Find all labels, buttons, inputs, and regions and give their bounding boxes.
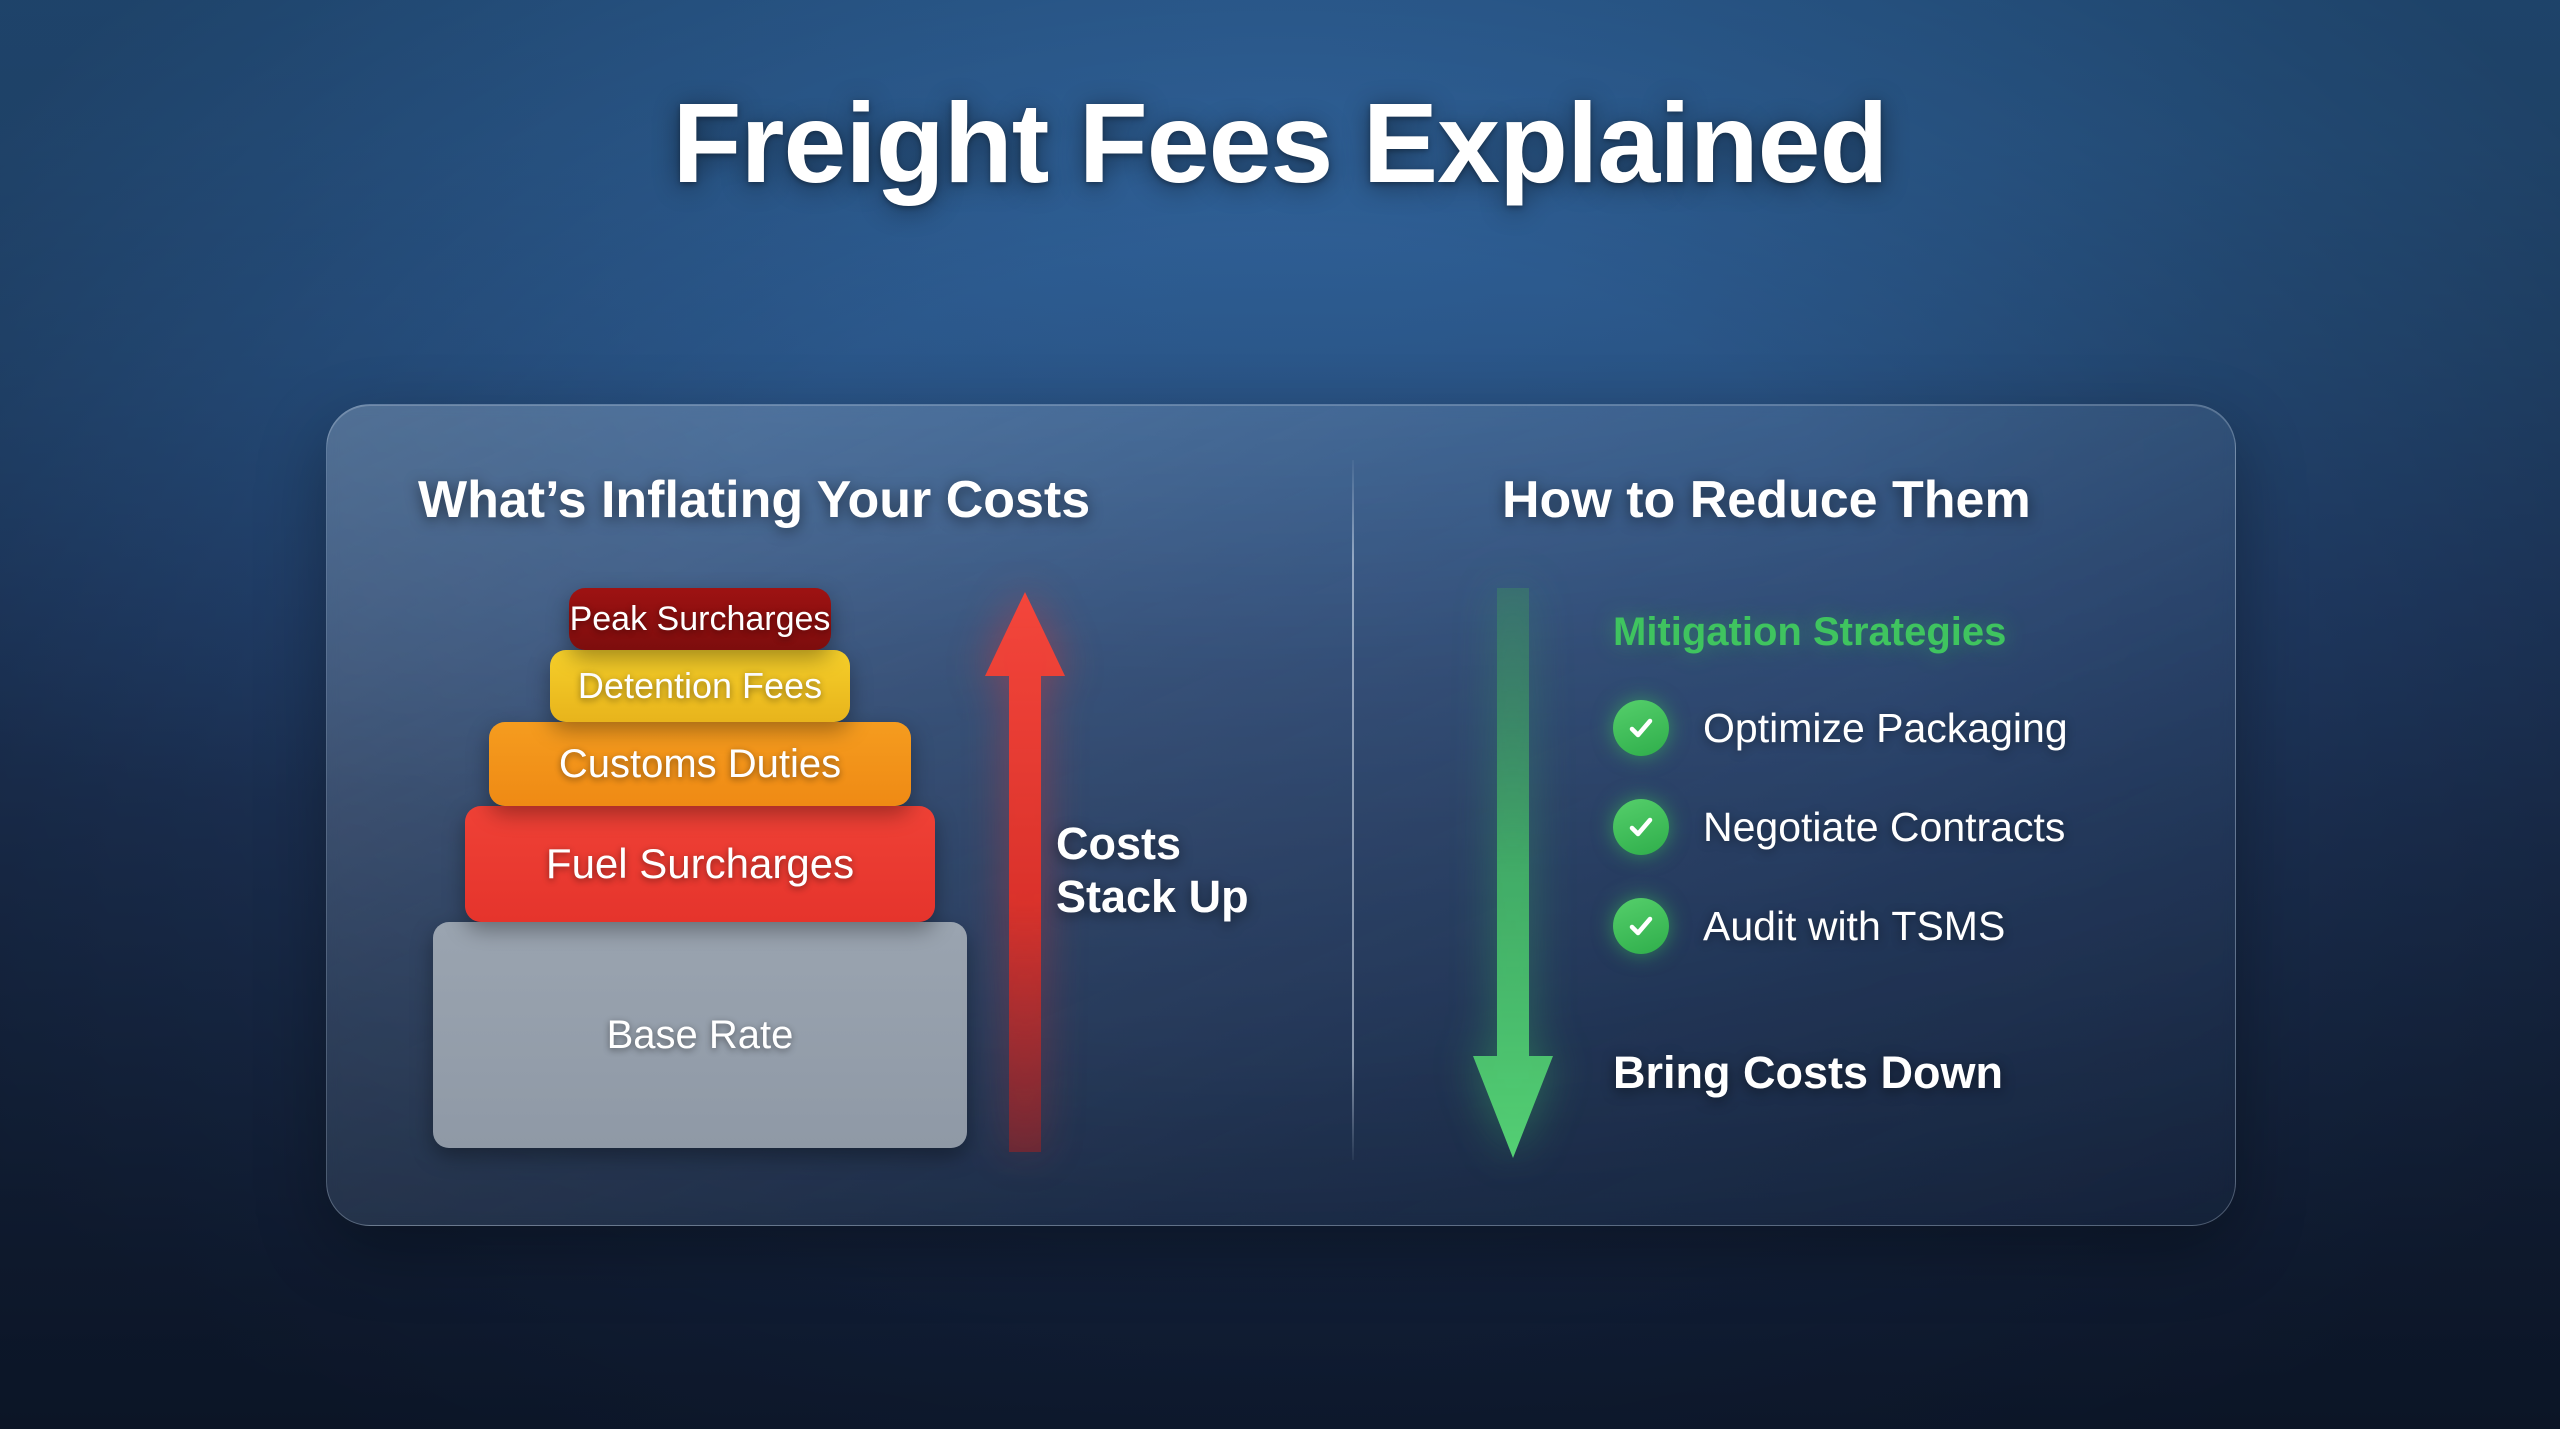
panel-divider [1352,460,1354,1160]
strategy-item[interactable]: Optimize Packaging [1613,700,2068,756]
check-circle-icon [1613,898,1669,954]
cost-bar-label: Customs Duties [559,742,841,787]
cost-bar-label: Detention Fees [578,665,822,707]
infographic-canvas: Freight Fees Explained What’s Inflating … [0,0,2560,1429]
strategy-label: Optimize Packaging [1703,705,2068,752]
left-panel-heading: What’s Inflating Your Costs [418,470,1090,530]
cost-bar-label: Fuel Surcharges [546,840,854,888]
check-circle-icon [1613,700,1669,756]
mitigation-strategies-title: Mitigation Strategies [1613,610,2006,655]
strategy-item[interactable]: Negotiate Contracts [1613,799,2068,855]
cost-bar-label: Base Rate [607,1013,794,1058]
arrow-down-icon [1473,588,1553,1158]
stack-label-line2: Stack Up [1056,871,1249,924]
arrow-up-icon [985,592,1065,1152]
page-title: Freight Fees Explained [0,78,2560,208]
cost-bar[interactable]: Detention Fees [550,650,850,722]
strategy-label: Audit with TSMS [1703,903,2005,950]
bring-costs-down-label: Bring Costs Down [1613,1047,2003,1099]
check-circle-icon [1613,799,1669,855]
strategy-label: Negotiate Contracts [1703,804,2065,851]
cost-bar-label: Peak Surcharges [570,600,831,639]
strategy-list: Optimize PackagingNegotiate ContractsAud… [1613,700,2068,997]
cost-bar-stack: Peak SurchargesDetention FeesCustoms Dut… [420,588,980,1166]
costs-stack-up-label: Costs Stack Up [1056,818,1249,923]
stack-label-line1: Costs [1056,818,1249,871]
right-panel-heading: How to Reduce Them [1502,470,2031,530]
cost-bar[interactable]: Customs Duties [489,722,911,806]
cost-bar[interactable]: Base Rate [433,922,967,1148]
cost-bar[interactable]: Fuel Surcharges [465,806,935,922]
cost-bar[interactable]: Peak Surcharges [569,588,831,650]
strategy-item[interactable]: Audit with TSMS [1613,898,2068,954]
